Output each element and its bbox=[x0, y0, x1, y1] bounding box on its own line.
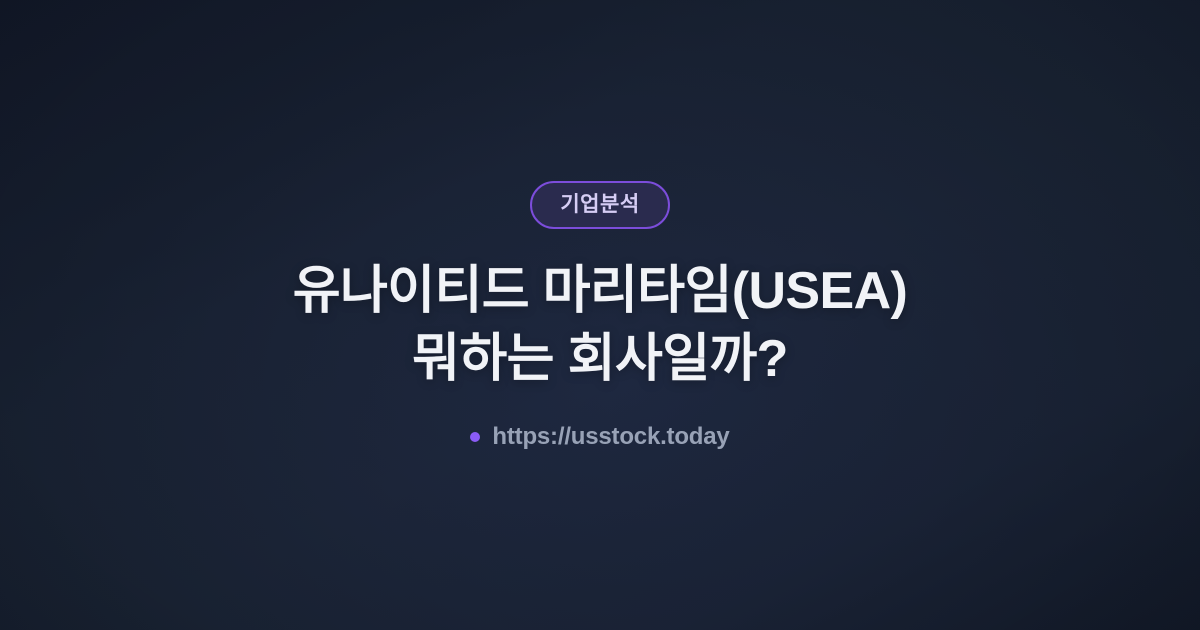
card-title: 유나이티드 마리타임(USEA) 뭐하는 회사일까? bbox=[293, 258, 908, 393]
card-title-line-2: 뭐하는 회사일까? bbox=[293, 326, 908, 394]
card-title-line-1: 유나이티드 마리타임(USEA) bbox=[293, 258, 908, 326]
category-badge-label: 기업분석 bbox=[560, 194, 639, 215]
site-url-row: https://usstock.today bbox=[470, 425, 729, 449]
og-share-card: 기업분석 유나이티드 마리타임(USEA) 뭐하는 회사일까? https://… bbox=[0, 0, 1200, 630]
bullet-dot-icon bbox=[470, 432, 480, 442]
site-url-text: https://usstock.today bbox=[492, 425, 729, 449]
category-badge: 기업분석 bbox=[530, 181, 670, 229]
card-content: 기업분석 유나이티드 마리타임(USEA) 뭐하는 회사일까? https://… bbox=[0, 0, 1200, 630]
